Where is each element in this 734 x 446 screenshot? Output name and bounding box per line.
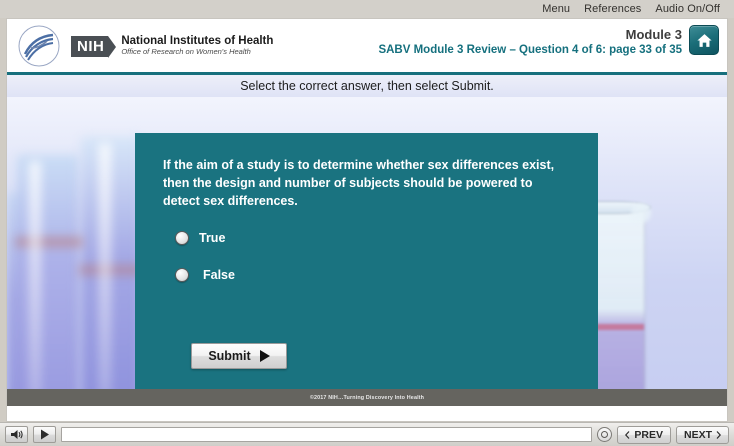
play-button[interactable] [33,426,56,443]
nih-office-name: Office of Research on Women's Health [121,48,273,57]
slide-header: NIH National Institutes of Health Office… [7,19,727,72]
breadcrumb: SABV Module 3 Review – Question 4 of 6: … [378,43,682,59]
slide-body: If the aim of a study is to determine wh… [7,97,727,406]
radio-true[interactable] [175,231,189,245]
next-button[interactable]: NEXT [676,426,729,444]
slide-stage: NIH National Institutes of Health Office… [6,18,728,422]
progress-track[interactable] [61,427,592,442]
choice-false[interactable]: False [175,268,235,282]
home-button[interactable] [689,25,719,55]
copyright-text: ©2017 NIH…Turning Discovery Into Health [310,395,424,401]
menu-item-audio-on-off[interactable]: Audio On/Off [655,3,720,15]
home-icon [696,32,713,49]
nih-badge: NIH [71,36,108,57]
choice-false-label: False [199,268,235,282]
radio-false[interactable] [175,268,189,282]
instruction-text: Select the correct answer, then select S… [240,79,494,93]
header-right: Module 3 SABV Module 3 Review – Question… [378,25,719,59]
play-triangle-icon [260,350,270,362]
hhs-seal-icon [15,24,63,68]
answer-choices: True False [175,231,235,305]
slide-footer: ©2017 NIH…Turning Discovery Into Health [7,389,727,406]
prev-button[interactable]: PREV [617,426,671,444]
instruction-bar: Select the correct answer, then select S… [7,75,727,97]
chevron-right-icon [716,431,721,439]
next-button-label: NEXT [684,429,712,441]
chevron-left-icon [625,431,630,439]
question-text: If the aim of a study is to determine wh… [163,156,572,210]
module-title: Module 3 [378,27,682,43]
choice-true[interactable]: True [175,231,235,245]
play-icon [40,429,50,440]
elearning-player: Menu References Audio On/Off NIH Nationa… [0,0,734,446]
replay-circle-icon[interactable] [597,427,612,442]
prev-button-label: PREV [634,429,663,441]
playback-control-bar: PREV NEXT [0,422,734,446]
top-menu-bar: Menu References Audio On/Off [0,0,734,18]
choice-true-label: True [199,231,225,245]
speaker-icon [10,429,23,440]
nih-logo-lockup: NIH National Institutes of Health Office… [15,24,273,68]
menu-item-menu[interactable]: Menu [542,3,570,15]
volume-button[interactable] [5,426,28,443]
submit-button[interactable]: Submit [191,343,287,369]
question-panel: If the aim of a study is to determine wh… [135,133,598,406]
submit-button-label: Submit [208,349,250,363]
nih-wordmark: NIH National Institutes of Health Office… [71,35,273,57]
menu-item-references[interactable]: References [584,3,641,15]
